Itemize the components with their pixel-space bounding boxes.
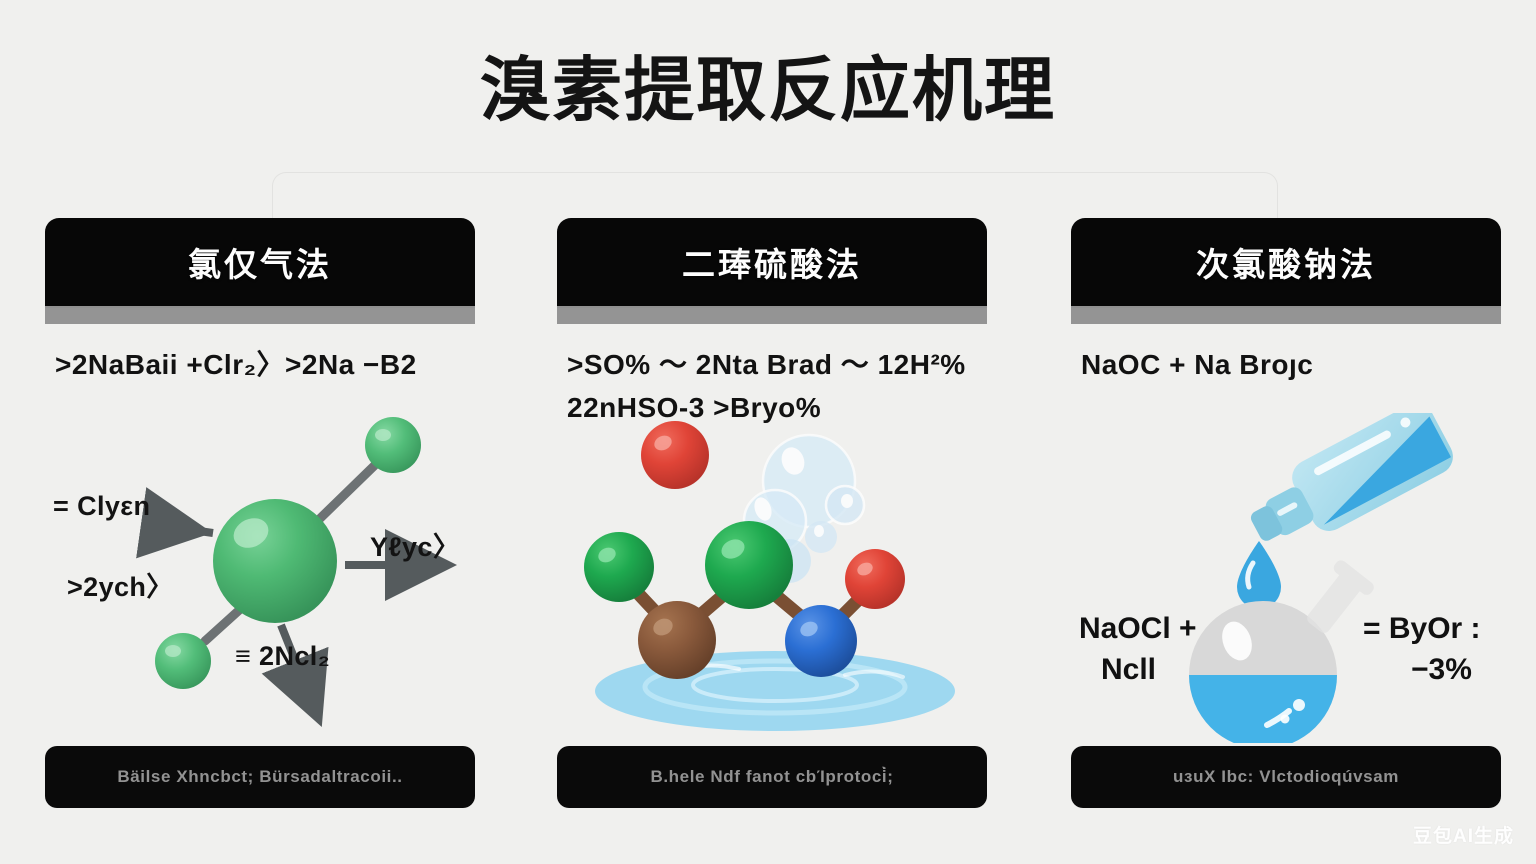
card-3-header-underbar	[1071, 306, 1501, 324]
card-3-left-label: NaOCl + Ncll	[1079, 609, 1259, 690]
card-1-footer-label: Bäilse Xhncbct; Bürsadaltracoii..	[117, 767, 402, 787]
atom-green-center	[705, 521, 793, 609]
card-3-left-line1: NaOCl +	[1079, 612, 1197, 645]
card-1-label-bottom: ≡ 2Ncl₂	[235, 641, 330, 672]
atom-small-bottom-left	[155, 633, 211, 689]
card-3-header: 次氯酸钠法	[1071, 218, 1501, 306]
card-3-right-line2: −3%	[1363, 650, 1481, 691]
card-3-formula-line-1: NaOC + Na Broȷс	[1081, 343, 1501, 386]
card-1-header-underbar	[45, 306, 475, 324]
atom-blue	[785, 605, 857, 677]
card-2-header-label: 二琫硫酸法	[682, 238, 862, 286]
card-2-footer-label: B.hele Ndf fanot cbΊprotoci̇̀;	[650, 767, 893, 787]
card-3-footer-label: uᴈuX Ibᴄ: Vlctodioqúvsam	[1173, 767, 1399, 787]
card-1-formula-line-1: >2NaBaii +Clr₂〉>2Na −B2	[55, 343, 475, 386]
watermark: 豆包AI生成	[1413, 821, 1514, 848]
card-1-header-label: 氯仅气法	[188, 238, 332, 286]
page-title: 溴素提取反应机理	[0, 52, 1536, 129]
poster-canvas: 溴素提取反应机理 氯仅气法 >2NaBaii +Clr₂〉>2Na −B2	[0, 0, 1536, 864]
card-3-formula-block: NaOC + Na Broȷс	[1081, 343, 1501, 386]
atom-central	[213, 499, 337, 623]
card-1-label-left: = Clyεn	[53, 491, 150, 522]
card-1-label-lower-left: >2ych〉	[67, 565, 174, 604]
arrow-left	[157, 525, 213, 533]
card-3-right-label: = ByOr : −3%	[1363, 609, 1481, 690]
atom-red-right	[845, 549, 905, 609]
card-1-illustration: = Clyεn Yℓyc〉 >2ych〉 ≡ 2Ncl₂	[45, 413, 475, 743]
atom-red-top	[641, 421, 709, 489]
card-2-header: 二琫硫酸法	[557, 218, 987, 306]
card-1-formula-block: >2NaBaii +Clr₂〉>2Na −B2	[55, 343, 475, 386]
card-1-header: 氯仅气法	[45, 218, 475, 306]
card-1-footer: Bäilse Xhncbct; Bürsadaltracoii..	[45, 746, 475, 808]
card-3-right-line1: = ByOr :	[1363, 612, 1481, 645]
card-1-label-right: Yℓyc〉	[370, 525, 460, 564]
card-3-left-line2: Ncll	[1079, 650, 1259, 691]
method-card-3: 次氯酸钠法 NaOC + Na Broȷс	[1071, 218, 1501, 808]
card-2-header-underbar	[557, 306, 987, 324]
atom-small-top-right	[365, 417, 421, 473]
method-card-2: 二琫硫酸法 >SO% ～ 2Nta Brad ～ 12H²% 22nHSO-3 …	[557, 218, 987, 808]
atom-green-left	[584, 532, 654, 602]
card-3-header-label: 次氯酸钠法	[1196, 238, 1376, 286]
so2-molecule-water-svg	[557, 413, 987, 743]
bleach-bottle-flask-svg	[1071, 413, 1501, 743]
atom-brown	[638, 601, 716, 679]
card-3-illustration: NaOCl + Ncll = ByOr : −3%	[1071, 413, 1501, 743]
card-3-footer: uᴈuX Ibᴄ: Vlctodioqúvsam	[1071, 746, 1501, 808]
bleach-bottle	[1238, 413, 1459, 563]
method-card-1: 氯仅气法 >2NaBaii +Clr₂〉>2Na −B2	[45, 218, 475, 808]
card-2-formula-line-1: >SO% ～ 2Nta Brad ～ 12H²%	[567, 343, 987, 386]
water-droplet	[1237, 541, 1281, 609]
card-2-illustration	[557, 413, 987, 743]
card-2-footer: B.hele Ndf fanot cbΊprotoci̇̀;	[557, 746, 987, 808]
